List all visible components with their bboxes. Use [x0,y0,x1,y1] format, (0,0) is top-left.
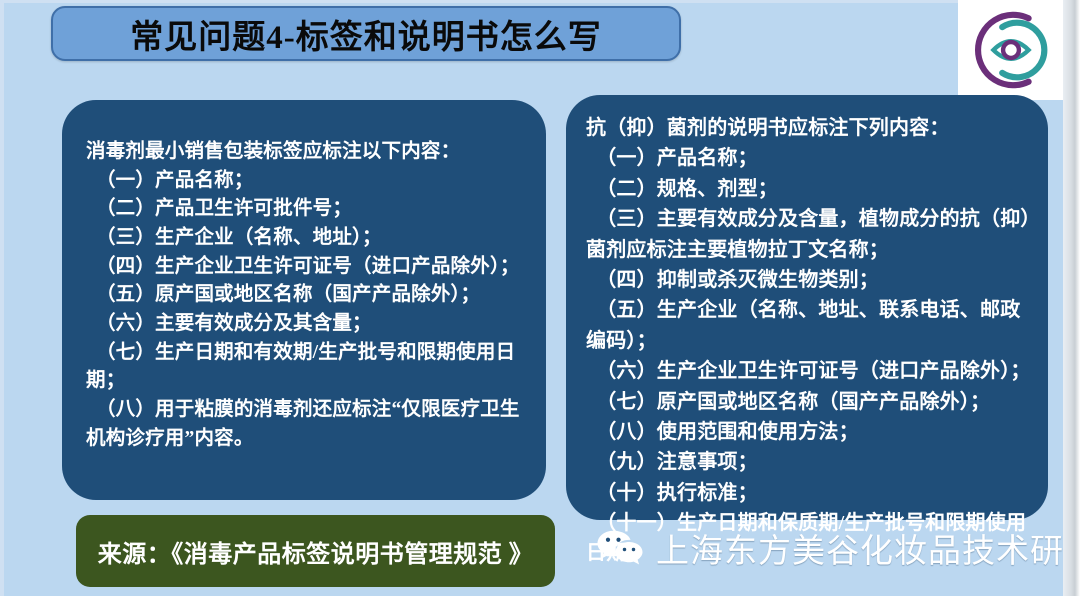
antibacterial-instruction-text: 抗（抑）菌剂的说明书应标注下列内容： （一）产品名称； （二）规格、剂型； （三… [586,113,1034,569]
page-title: 常见问题4-标签和说明书怎么写 [130,10,602,58]
disinfectant-label-text: 消毒剂最小销售包装标签应标注以下内容： （一）产品名称； （二）产品卫生许可批件… [86,138,524,453]
slide-right-edge [1063,0,1080,596]
footer-organization-name: 上海东方美谷化妆品技术研究中心 [656,524,1080,572]
logo-monogram-icon [967,6,1055,94]
slide-canvas: 常见问题4-标签和说明书怎么写 消毒剂最小销售包装标签应标注以下内容： （一）产… [0,0,1080,596]
slide-left-edge [0,0,4,596]
slide-top-edge [0,0,1080,3]
antibacterial-instruction-panel: 抗（抑）菌剂的说明书应标注下列内容： （一）产品名称； （二）规格、剂型； （三… [566,95,1048,520]
source-reference-label: 来源：《消毒产品标签说明书管理规范 》 [98,534,534,569]
organization-logo [958,0,1063,100]
disinfectant-label-panel: 消毒剂最小销售包装标签应标注以下内容： （一）产品名称； （二）产品卫生许可批件… [62,100,546,500]
wechat-icon [596,528,644,568]
source-reference-box: 来源：《消毒产品标签说明书管理规范 》 [76,515,555,587]
footer-watermark: 上海东方美谷化妆品技术研究中心 [596,524,1080,572]
slide-title-banner: 常见问题4-标签和说明书怎么写 [51,6,681,61]
